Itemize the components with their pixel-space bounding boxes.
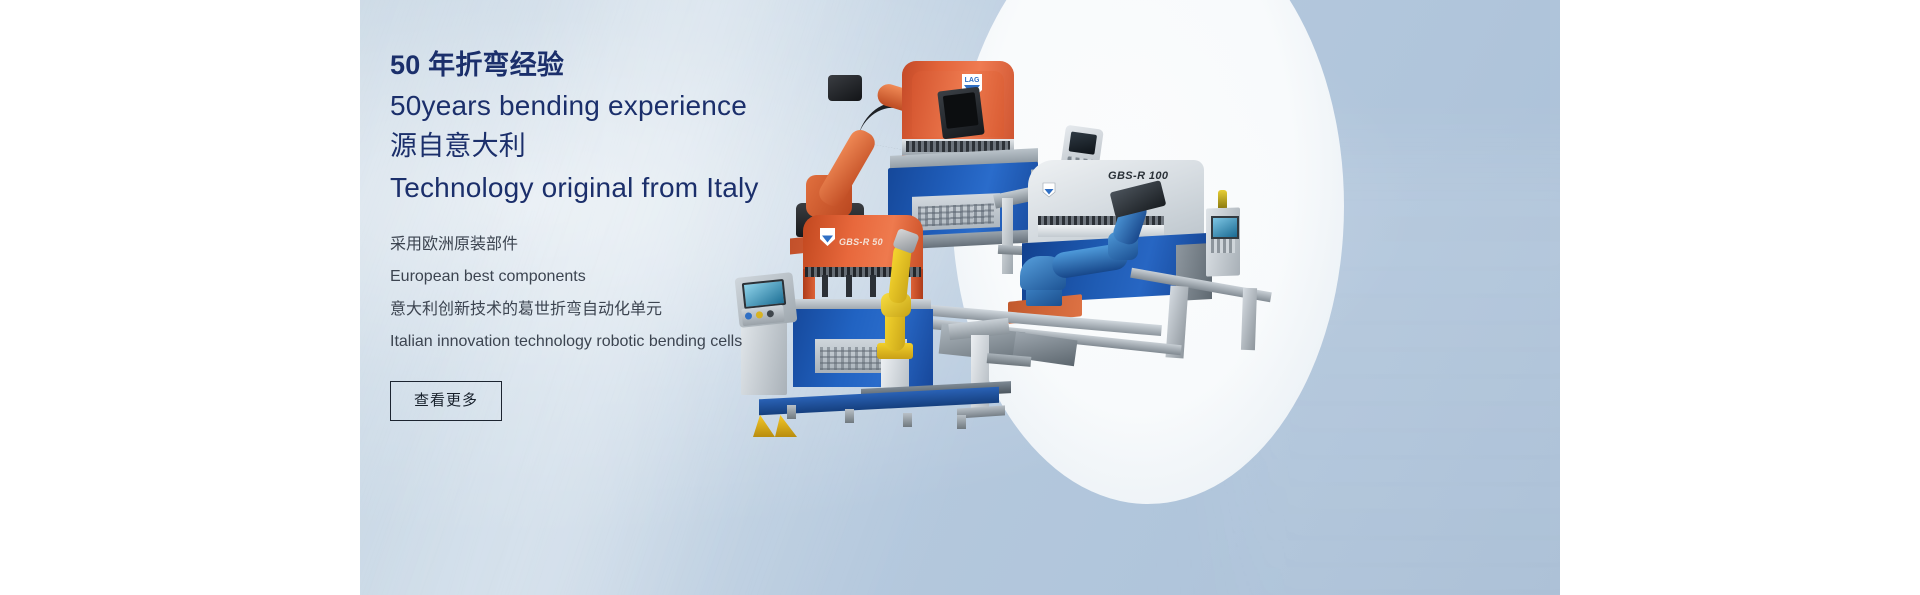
headline-block: 50 年折弯经验 50years bending experience 源自意大… xyxy=(390,52,1050,202)
banner-stage: LAG GBS-R 100 xyxy=(0,0,1920,595)
headline-line-1-en: 50years bending experience xyxy=(390,92,1050,121)
headline-line-2-en: Technology original from Italy xyxy=(390,174,1050,203)
subtext-line-1-cn: 采用欧洲原装部件 xyxy=(390,236,1050,253)
view-more-button[interactable]: 查看更多 xyxy=(390,381,502,421)
subtext-line-2-en: Italian innovation technology robotic be… xyxy=(390,333,1050,350)
subtext-line-2-cn: 意大利创新技术的葛世折弯自动化单元 xyxy=(390,301,1050,318)
hero-banner: LAG GBS-R 100 xyxy=(360,0,1560,595)
headline-line-2-cn: 源自意大利 xyxy=(390,133,1050,161)
subtext-block: 采用欧洲原装部件 European best components 意大利创新技… xyxy=(390,236,1050,350)
subtext-line-1-en: European best components xyxy=(390,268,1050,285)
banner-copy: 50 年折弯经验 50years bending experience 源自意大… xyxy=(390,52,1050,421)
headline-line-1-cn: 50 年折弯经验 xyxy=(390,52,1050,80)
